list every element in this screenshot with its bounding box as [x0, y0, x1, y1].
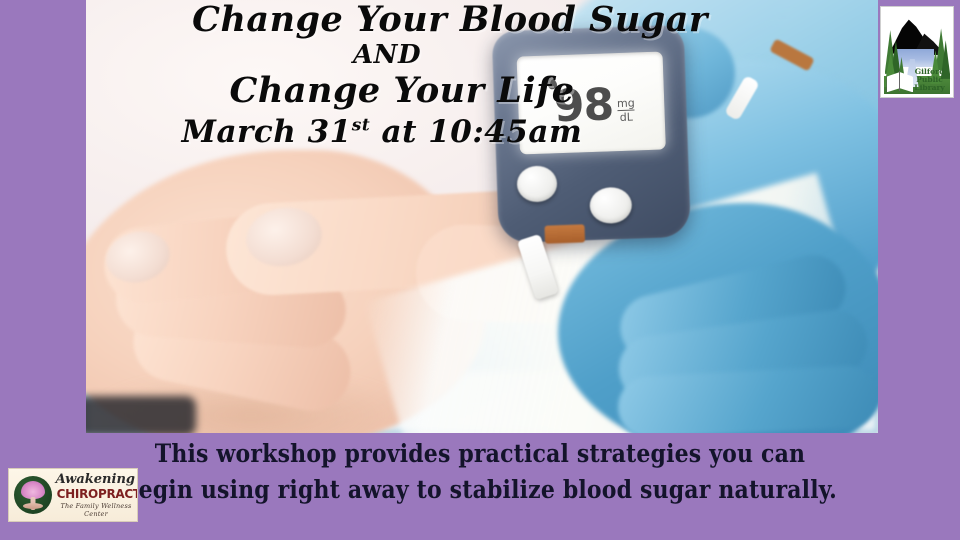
photo-dark-cuff: [86, 396, 196, 433]
glucose-meter: 98 mg dL: [492, 25, 693, 284]
meter-reading: 98 mg dL: [517, 51, 666, 154]
gilford-public-library-logo: Gilford Public Library: [880, 6, 954, 98]
book-spine: [899, 71, 900, 91]
lotus-base-icon: [23, 503, 43, 509]
chiro-name-bold: CHIROPRACTIC: [57, 487, 136, 501]
chiro-tagline: The Family Wellness Center: [55, 502, 137, 518]
body-text-block: This workshop provides practical strateg…: [0, 432, 960, 507]
chiro-name-script: Awakening: [55, 473, 137, 487]
chiropractic-logo-text: Awakening CHIROPRACTIC The Family Wellne…: [55, 473, 137, 518]
poster-canvas: 98 mg dL Change Your Blood Sugar AND Cha…: [0, 0, 960, 540]
body-text-line-2: begin using right away to stabilize bloo…: [58, 472, 903, 508]
library-logo-text: Gilford Public Library: [910, 68, 948, 92]
unit-dl: dL: [617, 109, 635, 123]
library-name-line-3: Library: [910, 84, 948, 92]
meter-units: mg dL: [617, 98, 636, 124]
meter-value: 98: [553, 83, 614, 129]
body-text-line-1: This workshop provides practical strateg…: [58, 432, 903, 472]
meter-strip-port: [544, 224, 585, 243]
unit-mg: mg: [617, 97, 635, 111]
meter-display: 98 mg dL: [517, 51, 666, 154]
lotus-hands-icon: [14, 476, 52, 514]
workshop-photo: 98 mg dL: [86, 0, 878, 433]
library-logo-art: Gilford Public Library: [884, 10, 950, 94]
awakening-chiropractic-logo: Awakening CHIROPRACTIC The Family Wellne…: [8, 468, 138, 522]
